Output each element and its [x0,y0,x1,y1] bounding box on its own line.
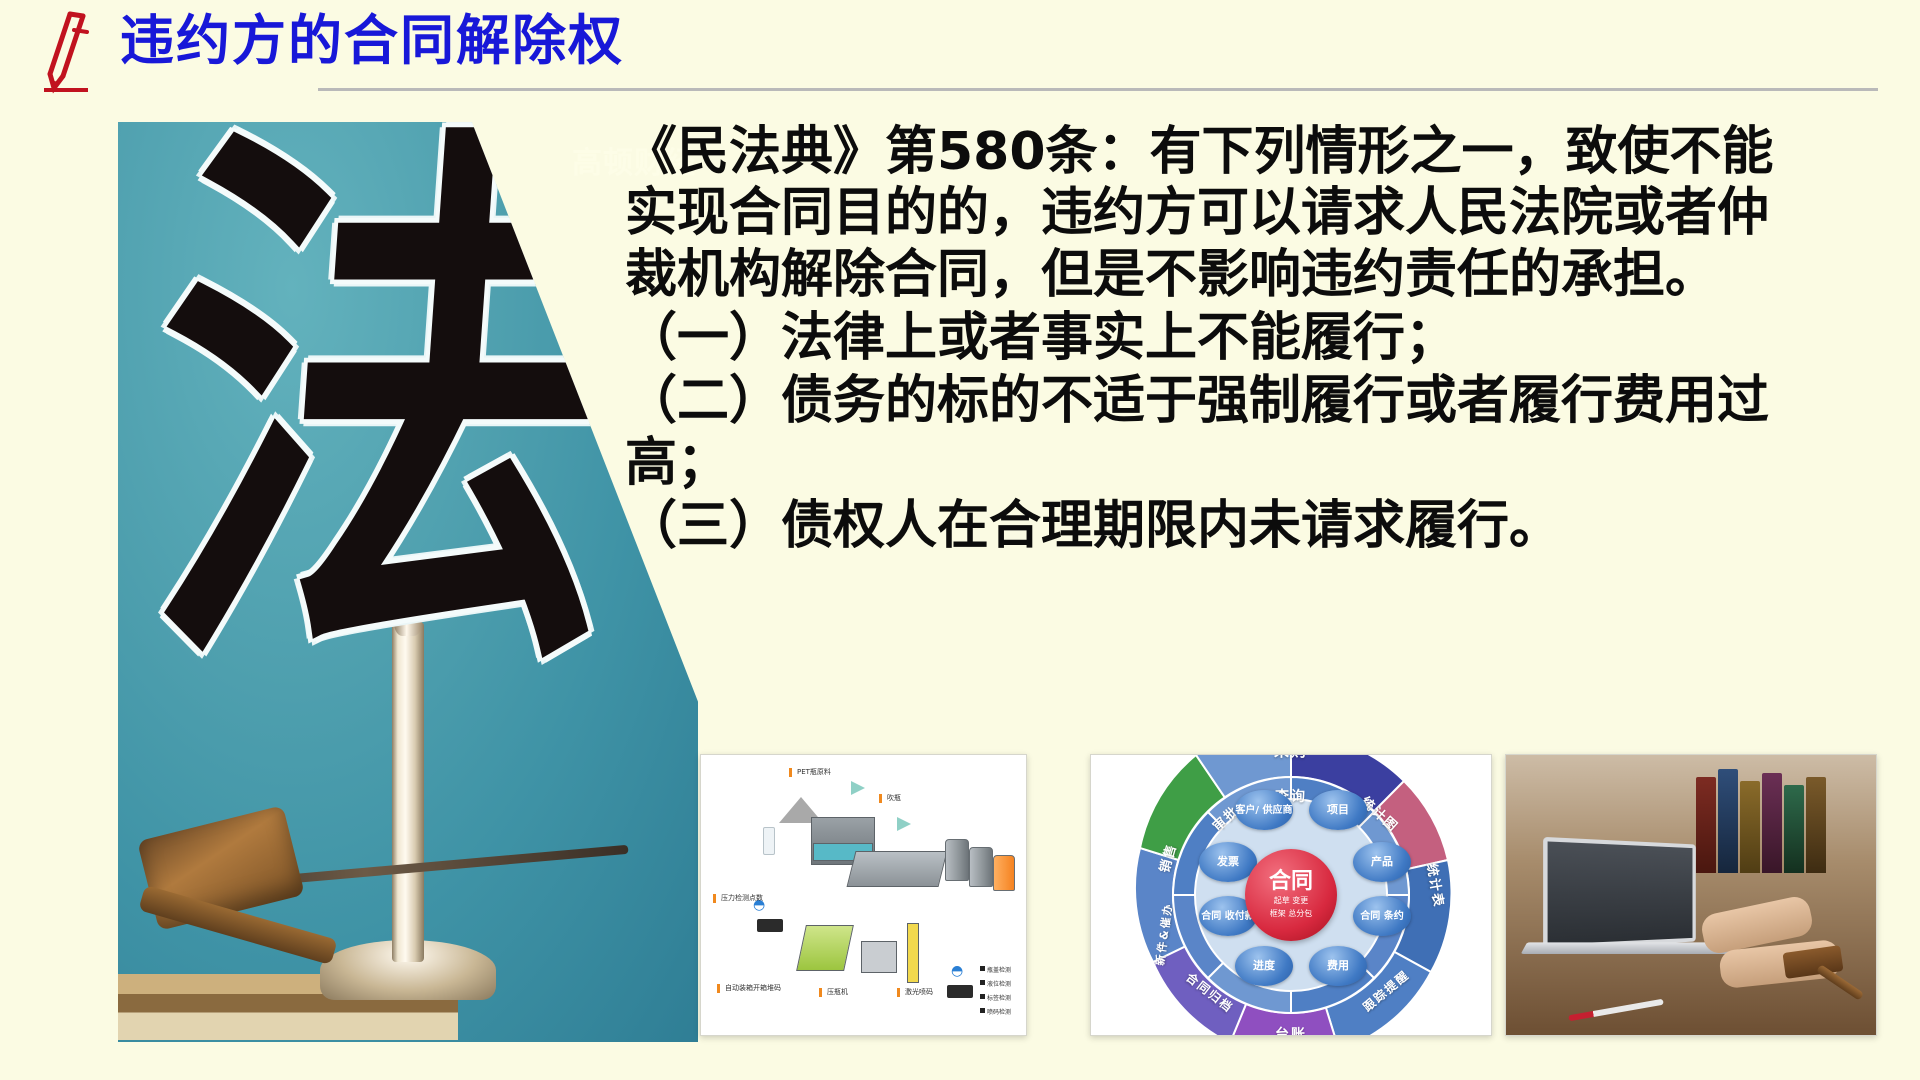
flow-arrow-2 [897,817,911,831]
camera-icon-2 [947,985,973,998]
book-shape-3 [1740,781,1760,873]
laser-marker-shape [907,923,919,983]
book-shape-6 [1806,777,1826,873]
wheel-node-cost: 费用 [1309,946,1367,986]
factory-legend-2: 液位检测 [987,979,1011,988]
press-shape [861,941,897,973]
title-divider [318,88,1878,91]
wheel-center-title: 合同 [1269,871,1313,893]
wheel-node-contract-terms: 合同 条约 [1353,896,1411,936]
camera-icon-1 [757,919,783,932]
factory-caption-2: 吹瓶 [887,793,901,803]
body-paragraph-4: （三）债权人在合理期限内未请求履行。 [625,496,1810,557]
book-shape-5 [1784,785,1804,873]
laptop-screen-shape [1543,837,1696,949]
factory-caption-5: 压瓶机 [827,987,848,997]
contract-wheel-diagram: 采购 查询 审批 统计图 销售 新件&催办 统计表 跟踪提醒 合同归档 台账 客… [1126,754,1456,1036]
wheel-center-subtitle-2: 框架 总分包 [1270,909,1313,919]
slide-body-text: 《民法典》第580条：有下列情形之一，致使不能实现合同目的的，违约方可以请求人民… [625,122,1810,560]
desk-scene [1506,755,1876,1035]
thumbnail-factory-process-diagram: PET瓶原料 吹瓶 ◓ 压力检测点数 自动装箱开箱堆码 压瓶机 激光喷码 ◓ 瓶… [700,754,1027,1036]
wheel-center-subtitle-1: 起草 变更 [1274,896,1309,906]
body-paragraph-1: 《民法典》第580条：有下列情形之一，致使不能实现合同目的的，违约方可以请求人民… [625,122,1810,306]
book-shape-2 [1718,769,1738,873]
calligraphy-character: 法 [118,144,686,671]
calligraphy-law-image: 法 [118,122,698,1042]
wheel-node-progress: 进度 [1235,946,1293,986]
tank-shape-2 [969,847,993,887]
palletizer-shape [796,925,854,971]
desk-pen-shape [1568,999,1664,1022]
slide-header: 违约方的合同解除权 [0,0,1920,100]
wheel-outer-label-ledger: 台账 [1275,1024,1307,1036]
conveyor-shape [847,851,948,887]
factory-legend-3: 标签检测 [987,993,1011,1002]
factory-side-caption-2: 自动装箱开箱堆码 [725,983,781,993]
factory-side-caption-1: 压力检测点数 [721,893,763,903]
tank-shape-3 [993,855,1015,891]
pencil-icon [40,8,104,94]
thumbnail-lawyer-desk-photo [1505,754,1877,1036]
laptop-base-shape [1521,942,1733,954]
page-title: 违约方的合同解除权 [120,14,624,68]
book-shape-4 [1762,773,1782,873]
factory-caption-1: PET瓶原料 [797,767,831,777]
wheel-outer-label-purchase: 采购 [1274,754,1308,761]
flow-arrow-1 [851,781,865,795]
bottle-shape [763,827,775,855]
factory-legend-1: 瓶盖检测 [987,965,1011,974]
wheel-center-contract: 合同 起草 变更 框架 总分包 [1245,849,1337,941]
book-shape-1 [1696,777,1716,873]
wifi-icon-2: ◓ [951,963,963,979]
wheel-node-product: 产品 [1353,842,1411,882]
body-paragraph-3: （二）债务的标的不适于强制履行或者履行费用过高； [625,371,1810,494]
body-paragraph-2: （一）法律上或者事实上不能履行； [625,308,1810,369]
tank-shape-1 [945,839,969,881]
factory-caption-7: 激光喷码 [905,987,933,997]
wheel-node-project: 项目 [1309,790,1367,830]
factory-legend-4: 喷码检测 [987,1007,1011,1016]
wheel-node-customer-supplier: 客户/ 供应商 [1235,790,1293,830]
thumbnail-contract-management-wheel: 采购 查询 审批 统计图 销售 新件&催办 统计表 跟踪提醒 合同归档 台账 客… [1090,754,1492,1036]
